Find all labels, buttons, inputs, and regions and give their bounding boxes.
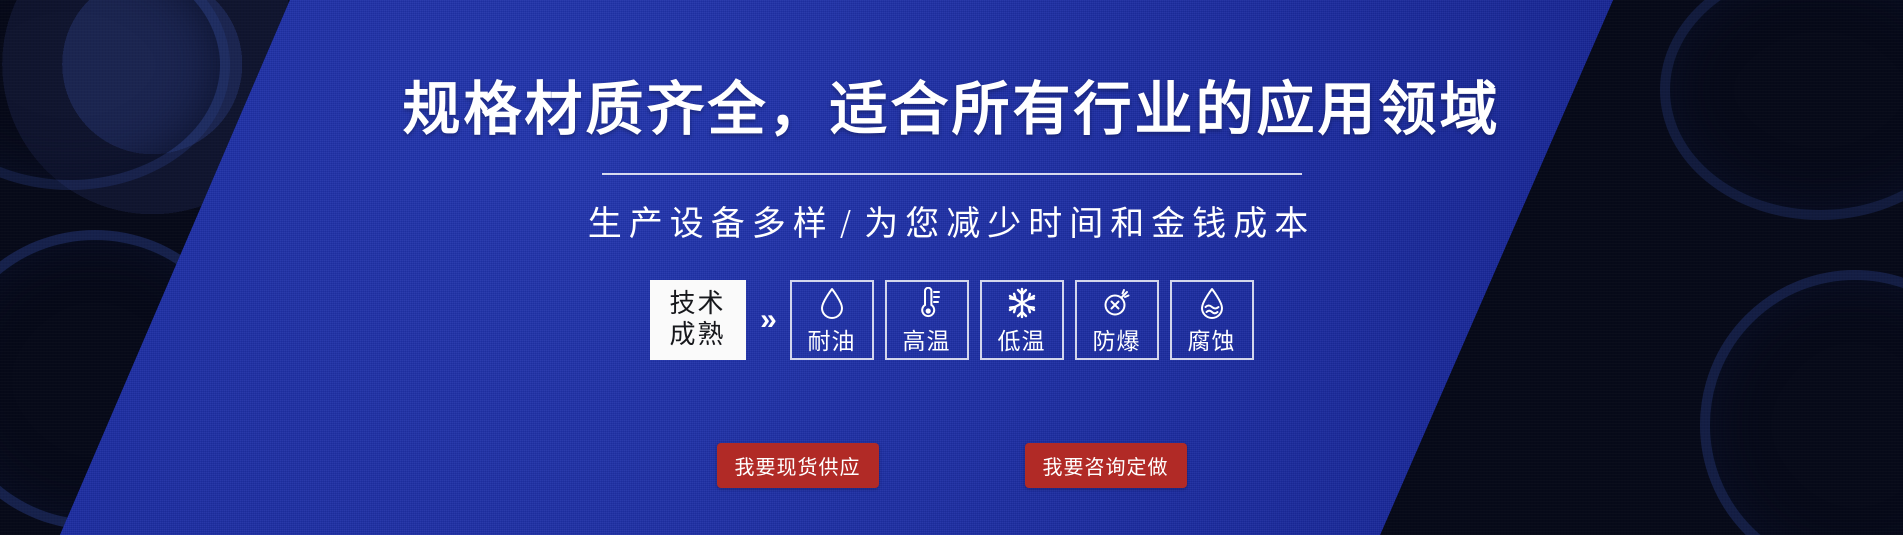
banner-title: 规格材质齐全，适合所有行业的应用领域 — [0, 62, 1903, 146]
feature-box-low-temp[interactable]: 低温 — [980, 280, 1064, 360]
banner-content: 规格材质齐全，适合所有行业的应用领域 生产设备多样/为您减少时间和金钱成本 技术… — [0, 0, 1903, 535]
feature-label: 低温 — [998, 322, 1046, 356]
oil-drop-icon — [819, 285, 845, 321]
explosion-proof-icon — [1102, 285, 1132, 321]
thermometer-hot-icon — [913, 285, 941, 321]
stock-supply-button[interactable]: 我要现货供应 — [717, 443, 879, 488]
snowflake-icon — [1006, 285, 1038, 321]
feature-box-explosion-proof[interactable]: 防爆 — [1075, 280, 1159, 360]
feature-label: 防爆 — [1093, 322, 1141, 356]
tech-mature-line2: 成熟 — [669, 320, 725, 351]
corrosion-drop-icon — [1199, 285, 1225, 321]
feature-label: 耐油 — [808, 322, 856, 356]
subtitle-right-text: 为您减少时间和金钱成本 — [864, 204, 1315, 244]
feature-row: 技术 成熟 » 耐油 — [650, 280, 1254, 360]
tech-mature-line1: 技术 — [669, 289, 725, 320]
promo-banner: 规格材质齐全，适合所有行业的应用领域 生产设备多样/为您减少时间和金钱成本 技术… — [0, 0, 1903, 535]
feature-box-high-temp[interactable]: 高温 — [885, 280, 969, 360]
chevron-right-icon: » — [746, 303, 790, 337]
banner-subtitle: 生产设备多样/为您减少时间和金钱成本 — [0, 196, 1903, 245]
feature-label: 腐蚀 — [1188, 322, 1236, 356]
cta-row: 我要现货供应 我要咨询定做 — [717, 443, 1187, 488]
feature-box-oil[interactable]: 耐油 — [790, 280, 874, 360]
title-divider — [602, 173, 1302, 175]
custom-order-button[interactable]: 我要咨询定做 — [1025, 443, 1187, 488]
subtitle-left-text: 生产设备多样 — [588, 204, 834, 244]
tech-mature-tag: 技术 成熟 — [650, 280, 746, 360]
feature-box-corrosion[interactable]: 腐蚀 — [1170, 280, 1254, 360]
subtitle-separator: / — [834, 204, 864, 244]
feature-label: 高温 — [903, 322, 951, 356]
